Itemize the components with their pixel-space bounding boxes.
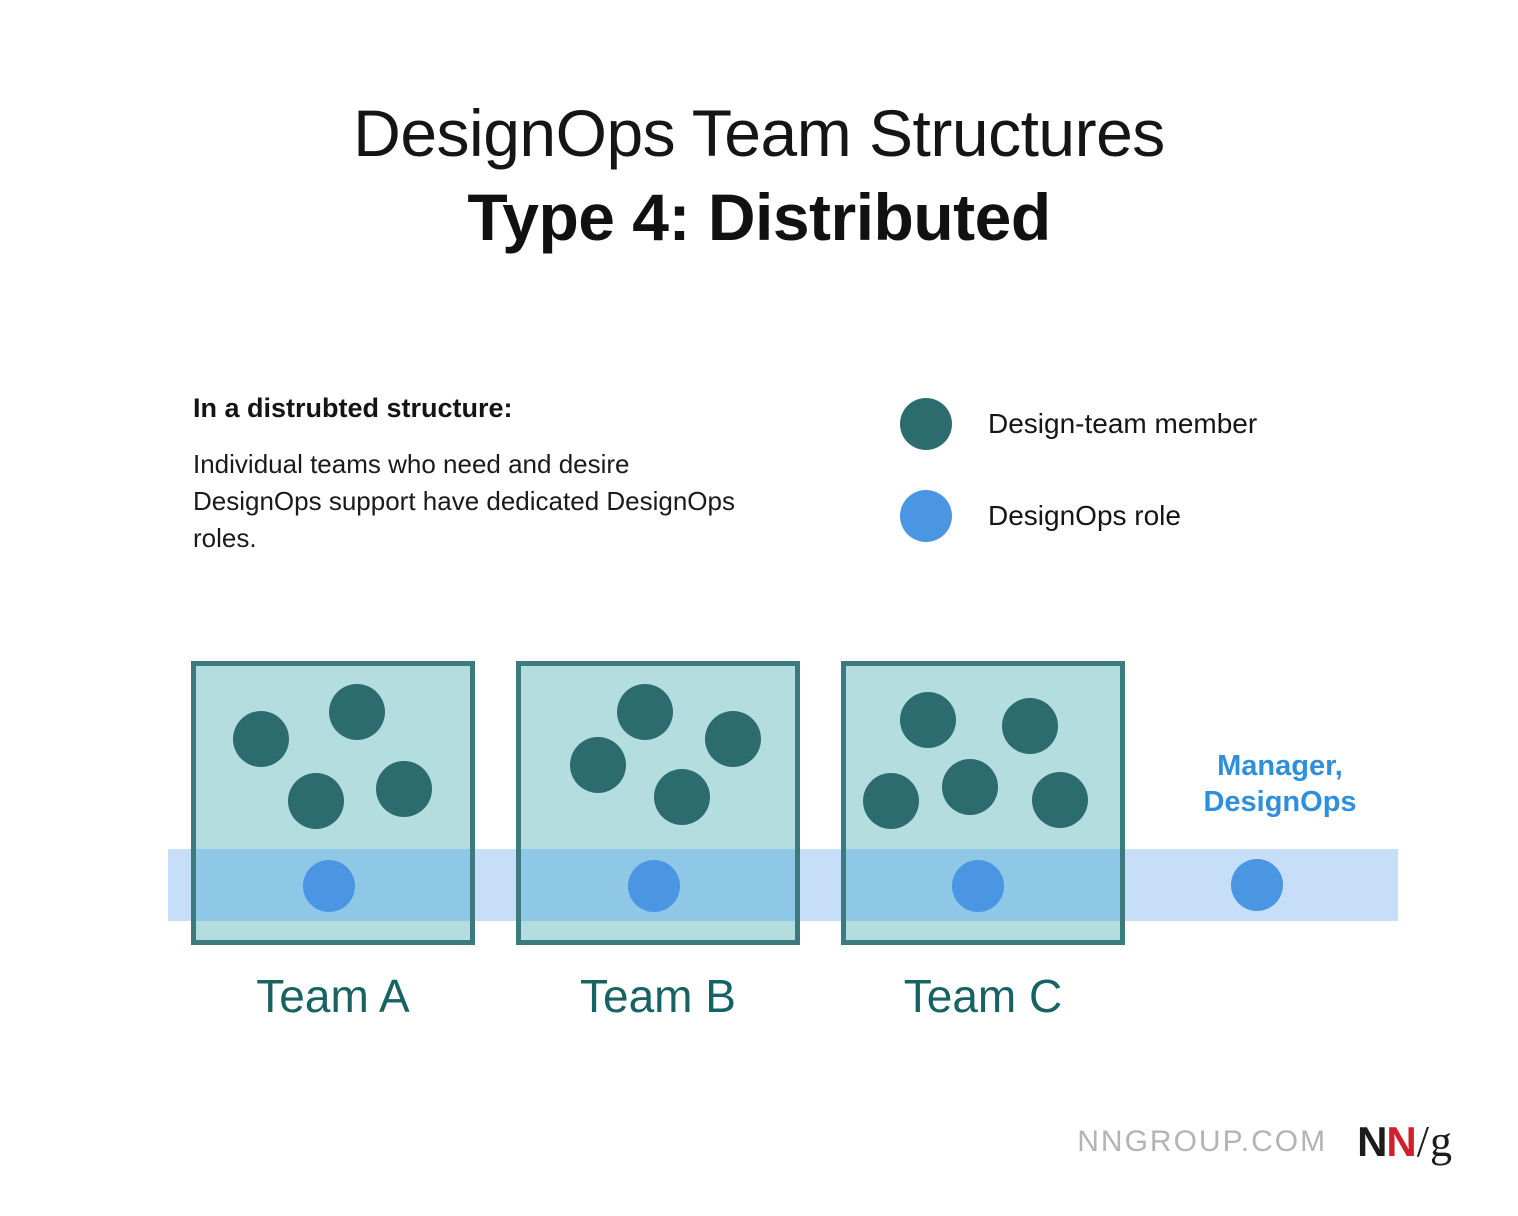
- design-team-member-dot: [1002, 698, 1058, 754]
- design-team-member-dot: [654, 769, 710, 825]
- design-team-member-dot: [288, 773, 344, 829]
- designops-role-dot: [628, 860, 680, 912]
- design-team-member-dot: [705, 711, 761, 767]
- team-label: Team C: [841, 973, 1125, 1019]
- manager-label-line-1: Manager,: [1217, 750, 1343, 782]
- design-team-member-dot: [942, 759, 998, 815]
- design-team-member-dot: [617, 684, 673, 740]
- logo-slash: /: [1417, 1120, 1429, 1164]
- design-team-member-dot: [233, 711, 289, 767]
- footer-url: NNGROUP.COM: [1077, 1125, 1327, 1159]
- design-team-member-dot: [570, 737, 626, 793]
- footer: NNGROUP.COM NN/g: [1077, 1120, 1452, 1164]
- manager-designops-dot: [1231, 859, 1283, 911]
- design-team-member-dot: [900, 692, 956, 748]
- design-team-member-dot: [863, 773, 919, 829]
- team-box: [191, 661, 475, 945]
- logo-n-red: N: [1386, 1121, 1415, 1163]
- manager-designops-label: Manager, DesignOps: [1155, 748, 1405, 821]
- design-team-member-dot: [1032, 772, 1088, 828]
- logo-g: g: [1430, 1120, 1452, 1164]
- manager-label-line-2: DesignOps: [1203, 786, 1356, 818]
- team-label: Team B: [516, 973, 800, 1019]
- team-label: Team A: [191, 973, 475, 1019]
- team-box: [516, 661, 800, 945]
- design-team-member-dot: [376, 761, 432, 817]
- designops-role-dot: [303, 860, 355, 912]
- nng-logo: NN/g: [1357, 1120, 1452, 1164]
- designops-role-dot: [952, 860, 1004, 912]
- diagram-canvas: DesignOps Team Structures Type 4: Distri…: [0, 0, 1518, 1216]
- distributed-structure-diagram: Team ATeam BTeam C Manager, DesignOps: [0, 0, 1518, 1216]
- logo-n-black: N: [1357, 1121, 1386, 1163]
- design-team-member-dot: [329, 684, 385, 740]
- team-box: [841, 661, 1125, 945]
